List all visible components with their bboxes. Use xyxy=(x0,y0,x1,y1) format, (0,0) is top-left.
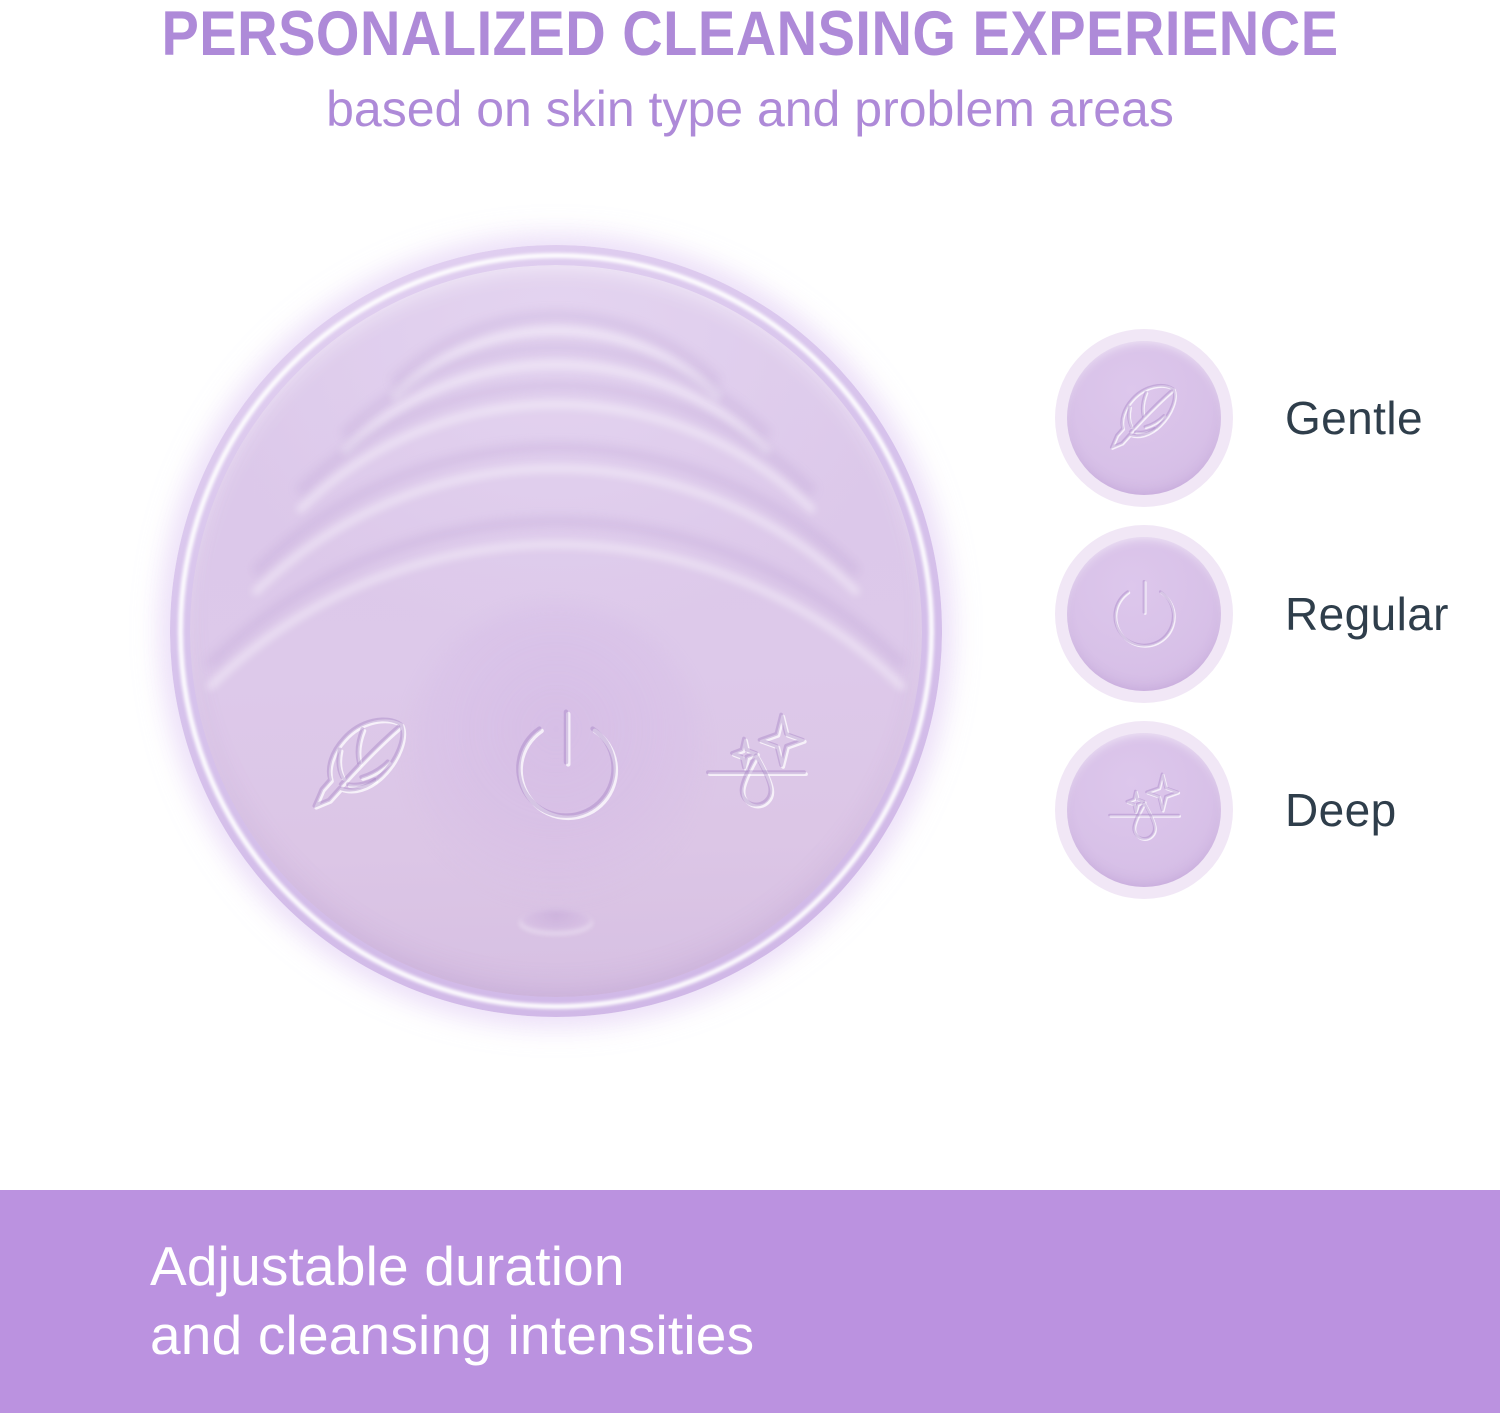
banner-text: Adjustable duration and cleansing intens… xyxy=(150,1232,754,1370)
feather-icon xyxy=(300,705,420,825)
mode-label-gentle: Gentle xyxy=(1285,391,1423,445)
mode-item-gentle[interactable]: Gentle xyxy=(1055,320,1500,516)
pore-sparkle-icon xyxy=(696,705,816,825)
device-body xyxy=(190,265,922,997)
mode-chip-gentle[interactable] xyxy=(1055,329,1233,507)
mode-label-deep: Deep xyxy=(1285,783,1397,837)
mode-item-deep[interactable]: Deep xyxy=(1055,712,1500,908)
mode-label-regular: Regular xyxy=(1285,587,1449,641)
bottom-banner: Adjustable duration and cleansing intens… xyxy=(0,1190,1500,1413)
page-subtitle: based on skin type and problem areas xyxy=(0,58,1500,134)
device-bottom-notch xyxy=(519,909,593,935)
power-icon xyxy=(1101,571,1187,657)
power-icon xyxy=(496,695,636,835)
feather-icon xyxy=(1101,375,1187,461)
page-title: PERSONALIZED CLEANSING EXPERIENCE xyxy=(0,0,1500,65)
mode-list: Gentle Regular xyxy=(1055,320,1500,908)
headline-block: PERSONALIZED CLEANSING EXPERIENCE based … xyxy=(0,0,1500,134)
mode-chip-deep[interactable] xyxy=(1055,721,1233,899)
mode-item-regular[interactable]: Regular xyxy=(1055,516,1500,712)
pore-sparkle-icon xyxy=(1101,767,1187,853)
device-product-image xyxy=(0,190,1020,1170)
mode-chip-regular[interactable] xyxy=(1055,525,1233,703)
